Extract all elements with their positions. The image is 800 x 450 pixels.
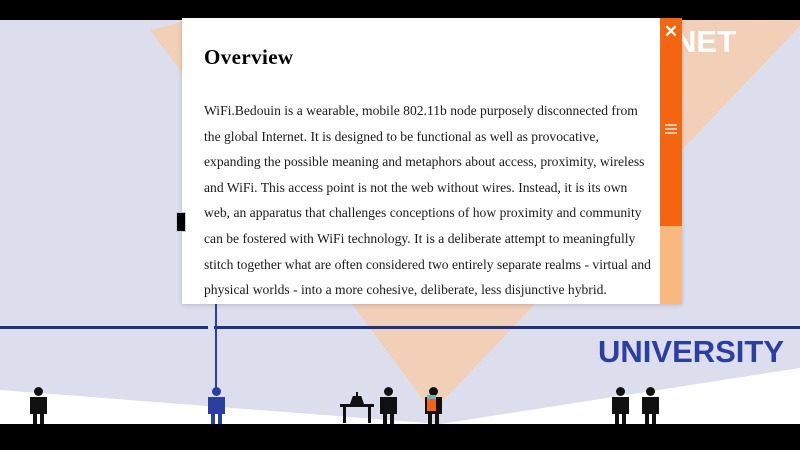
person-body <box>380 397 397 414</box>
table-leg-right <box>368 407 371 423</box>
modal-scrollbar[interactable]: ✕ <box>660 18 682 304</box>
person-body <box>208 397 225 414</box>
person-body <box>612 397 629 414</box>
modal-left-marker <box>176 212 186 232</box>
overview-modal: Overview WiFi.Bedouin is a wearable, mob… <box>182 18 682 304</box>
person-body <box>30 397 47 414</box>
background-word-university: UNIVERSITY <box>598 334 784 370</box>
person-head <box>384 387 393 396</box>
table-leg-left <box>343 407 346 423</box>
person-head <box>212 387 221 396</box>
person-head <box>34 387 43 396</box>
person-head <box>616 387 625 396</box>
scrollbar-grip-icon[interactable] <box>665 124 677 135</box>
antenna-icon <box>215 317 217 387</box>
modal-content-area: Overview WiFi.Bedouin is a wearable, mob… <box>182 18 660 304</box>
person-head <box>646 387 655 396</box>
backpack-icon <box>427 399 436 411</box>
modal-body-text: WiFi.Bedouin is a wearable, mobile 802.1… <box>204 98 652 303</box>
modal-title: Overview <box>204 45 294 70</box>
letterbox-bar-bottom <box>0 424 800 450</box>
modal-scrollbar-thumb[interactable]: ✕ <box>660 18 682 226</box>
horizon-rule <box>0 326 800 329</box>
close-icon[interactable]: ✕ <box>660 20 682 42</box>
horizon-rule-gap <box>208 326 214 329</box>
person-body <box>642 397 659 414</box>
slide-viewer: TERNET UNIVERSITY <box>0 0 800 450</box>
letterbox-bar-top <box>0 0 800 20</box>
